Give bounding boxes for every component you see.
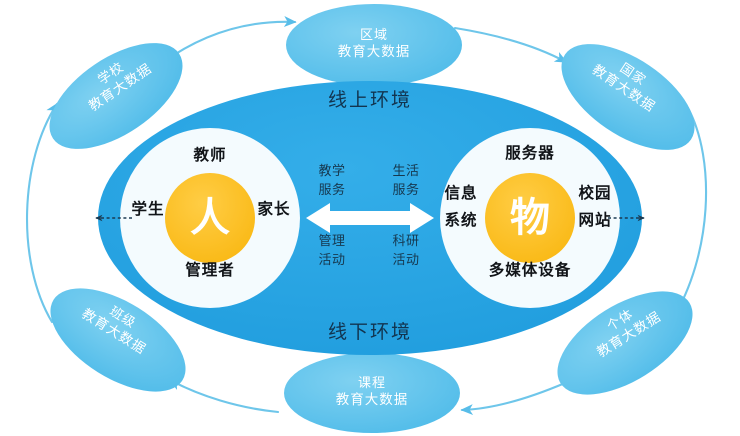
people-ring-label-teacher: 教师 — [170, 146, 250, 164]
satellite-course-line2: 教育大数据 — [312, 392, 432, 409]
satellite-label-course: 课程 教育大数据 — [312, 375, 432, 409]
service-label-teaching-2: 服务 — [310, 181, 354, 200]
people-core-label: 人 — [180, 198, 240, 238]
satellite-course-line1: 课程 — [312, 375, 432, 392]
people-ring-label-administrator: 管理者 — [162, 261, 258, 279]
arc-school-to-region — [162, 22, 295, 63]
service-label-living-2: 服务 — [384, 181, 428, 200]
satellite-label-region: 区域 教育大数据 — [314, 27, 434, 61]
people-ring-label-parent: 家长 — [244, 200, 304, 218]
service-label-teaching-1: 教学 — [310, 162, 354, 181]
things-ring-label-website: 网站 — [570, 211, 620, 229]
things-ring-label-system: 系统 — [436, 211, 486, 229]
satellite-region-line1: 区域 — [314, 27, 434, 44]
service-label-living-1: 生活 — [384, 162, 428, 181]
diagram-canvas: 线上环境 线下环境 人 教师 学生 家长 管理者 物 服务器 信息 系统 校园 … — [0, 0, 740, 436]
arc-course-to-class — [170, 380, 278, 412]
service-label-management-2: 活动 — [310, 251, 354, 270]
service-label-management-1: 管理 — [310, 232, 354, 251]
satellite-region-line2: 教育大数据 — [314, 44, 434, 61]
things-ring-label-campus: 校园 — [570, 184, 620, 202]
label-offline-environment: 线下环境 — [300, 317, 440, 344]
things-ring-label-server: 服务器 — [482, 144, 578, 162]
people-ring-label-student: 学生 — [118, 200, 178, 218]
label-online-environment: 线上环境 — [300, 85, 440, 112]
service-label-research-2: 活动 — [384, 251, 428, 270]
arc-individual-to-course — [462, 383, 565, 410]
things-ring-label-multimedia-device: 多媒体设备 — [468, 261, 592, 279]
service-label-research-1: 科研 — [384, 232, 428, 251]
things-core-label: 物 — [500, 198, 560, 238]
arc-region-to-nation — [455, 28, 566, 62]
things-ring-label-information: 信息 — [436, 184, 486, 202]
